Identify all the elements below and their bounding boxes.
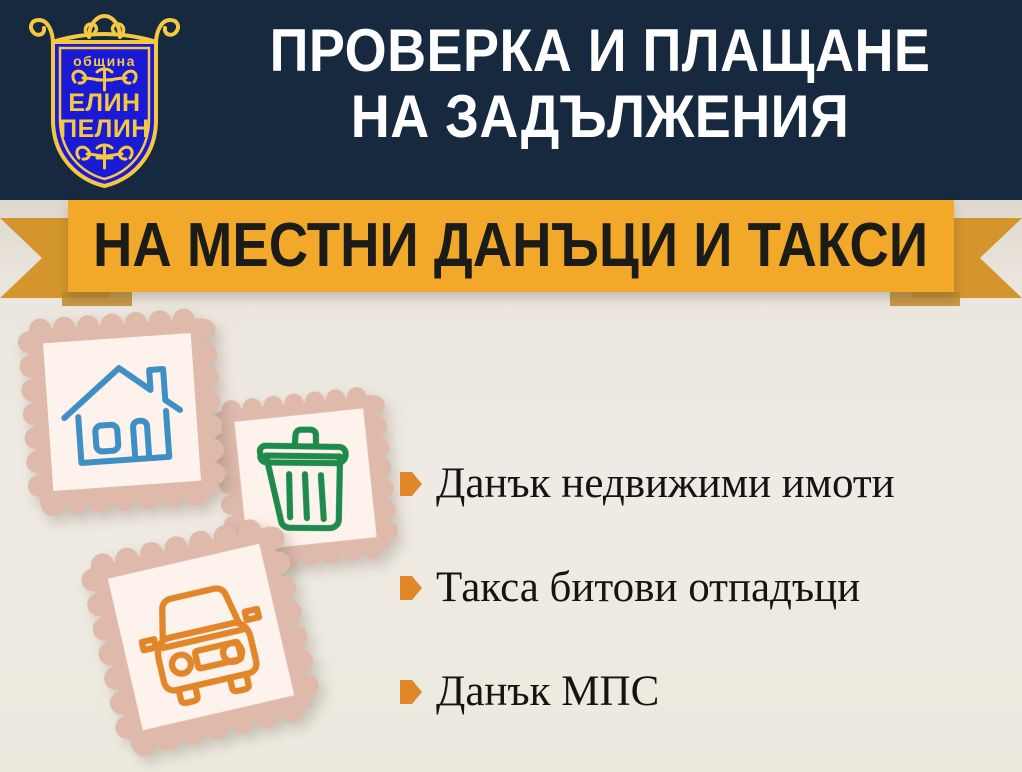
list-item[interactable]: Данък недвижими имоти — [400, 432, 1015, 536]
list-item-label: Данък МПС — [436, 668, 659, 716]
tax-type-list: Данък недвижими имоти Такса битови отпад… — [400, 432, 1015, 744]
title-line-2: НА ЗАДЪЛЖЕНИЯ — [231, 84, 969, 150]
svg-text:ПЕЛИН: ПЕЛИН — [59, 115, 150, 143]
municipality-logo: община ЕЛИН ПЕЛИН — [27, 8, 182, 190]
bullet-arrow-icon — [400, 472, 422, 496]
poster-root: община ЕЛИН ПЕЛИН — [0, 0, 1022, 772]
ribbon-banner: НА МЕСТНИ ДАНЪЦИ И ТАКСИ — [68, 200, 954, 292]
ribbon-text: НА МЕСТНИ ДАНЪЦИ И ТАКСИ — [93, 215, 928, 277]
subtitle-ribbon: НА МЕСТНИ ДАНЪЦИ И ТАКСИ — [0, 200, 1022, 310]
svg-text:община: община — [73, 53, 136, 69]
stamp-card-house — [15, 305, 228, 518]
bullet-arrow-icon — [400, 576, 422, 600]
bullet-arrow-icon — [400, 680, 422, 704]
list-item-label: Данък недвижими имоти — [436, 460, 895, 508]
title-line-1: ПРОВЕРКА И ПЛАЩАНЕ — [231, 18, 969, 84]
page-title: ПРОВЕРКА И ПЛАЩАНЕ НА ЗАДЪЛЖЕНИЯ — [190, 18, 1010, 150]
stamp-frame-house — [15, 305, 228, 518]
list-item-label: Такса битови отпадъци — [436, 564, 860, 612]
coat-of-arms-icon: община ЕЛИН ПЕЛИН — [27, 8, 182, 190]
ribbon-fold-left — [62, 292, 132, 306]
ribbon-fold-right — [890, 292, 960, 306]
list-item[interactable]: Данък МПС — [400, 640, 1015, 744]
list-item[interactable]: Такса битови отпадъци — [400, 536, 1015, 640]
header-bar: община ЕЛИН ПЕЛИН — [0, 0, 1022, 200]
svg-text:ЕЛИН: ЕЛИН — [68, 89, 140, 117]
